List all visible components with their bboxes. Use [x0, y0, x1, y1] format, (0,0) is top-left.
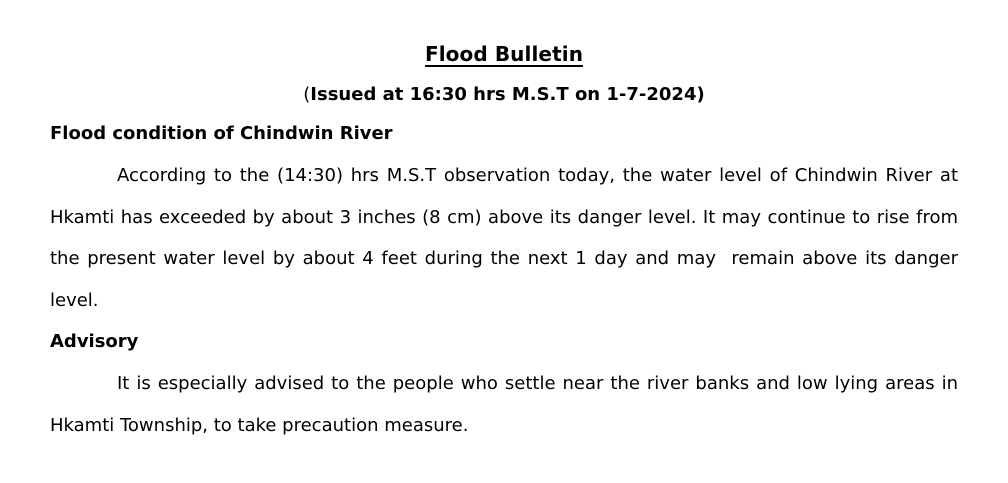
document-page: Flood Bulletin (Issued at 16:30 hrs M.S.…: [0, 0, 1008, 483]
subtitle-row: (Issued at 16:30 hrs M.S.T on 1-7-2024): [0, 65, 1008, 104]
spacer-after-flood-heading: [50, 143, 958, 155]
issued-line: (Issued at 16:30 hrs M.S.T on 1-7-2024): [303, 86, 704, 104]
section-heading-flood-condition: Flood condition of Chindwin River: [50, 125, 958, 143]
paragraph-flood-condition: According to the (14:30) hrs M.S.T obser…: [50, 155, 958, 321]
paragraph-advisory: It is especially advised to the people w…: [50, 363, 958, 446]
document-body: Flood condition of Chindwin River Accord…: [50, 104, 958, 447]
page-title: Flood Bulletin: [425, 44, 583, 64]
paragraph-advisory-text: It is especially advised to the people w…: [50, 373, 964, 436]
spacer-before-advisory: [50, 321, 958, 333]
paragraph-flood-condition-text: According to the (14:30) hrs M.S.T obser…: [50, 165, 964, 311]
spacer-after-advisory-heading: [50, 351, 958, 363]
section-heading-advisory: Advisory: [50, 333, 958, 351]
title-row: Flood Bulletin: [0, 0, 1008, 65]
issued-text: Issued at 16:30 hrs M.S.T on 1-7-2024): [310, 84, 704, 105]
